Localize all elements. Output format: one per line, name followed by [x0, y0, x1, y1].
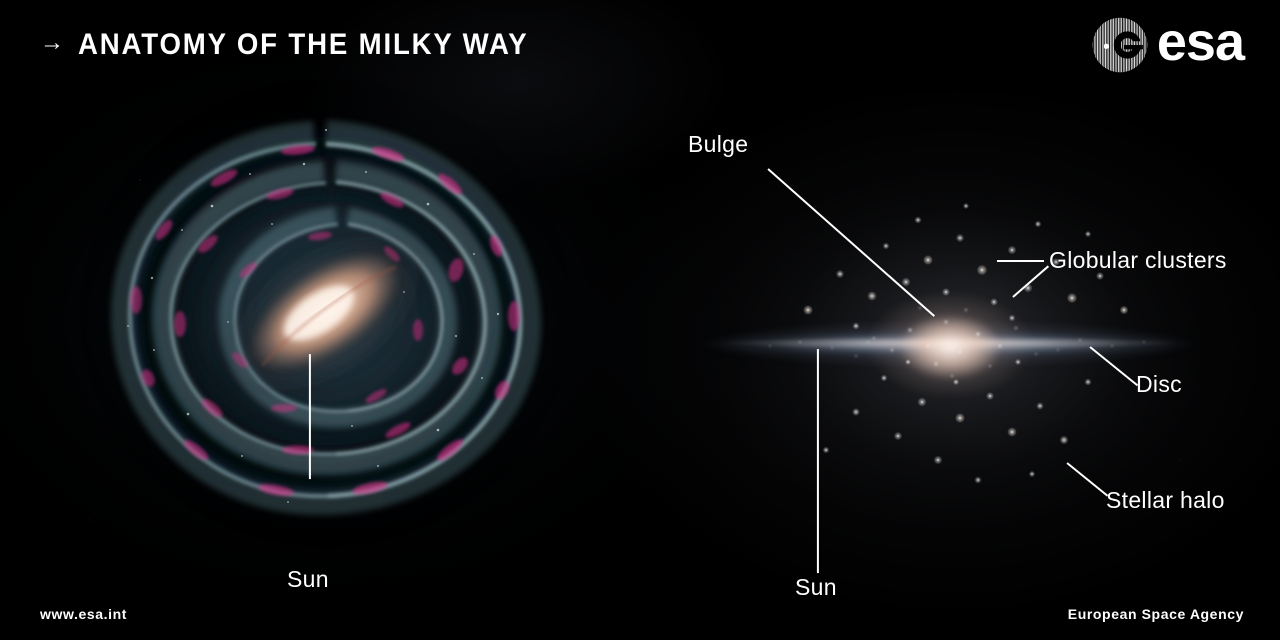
galactic-bulge — [865, 290, 1035, 400]
label-sun-edgeon: Sun — [795, 574, 837, 601]
infographic-canvas: → Anatomy of the Milky Way — [0, 0, 1280, 640]
label-bulge: Bulge — [688, 131, 748, 158]
esa-globe-icon — [1089, 14, 1151, 76]
leader-line-sun-edgeon — [817, 349, 819, 573]
edge-on-galaxy-illustration — [660, 150, 1260, 530]
esa-logo: esa — [1089, 14, 1244, 76]
page-title: → Anatomy of the Milky Way — [40, 28, 568, 62]
footer-website[interactable]: www.esa.int — [40, 606, 127, 622]
label-disc: Disc — [1136, 371, 1182, 398]
leader-line-sun-faceon — [309, 354, 311, 479]
face-on-galaxy-illustration — [36, 78, 616, 548]
arrow-right-icon: → — [40, 31, 64, 55]
leader-line-globular-clusters-stub — [997, 260, 1044, 262]
label-sun-faceon: Sun — [287, 566, 329, 593]
label-stellar-halo: Stellar halo — [1106, 487, 1225, 514]
footer-agency: European Space Agency — [1068, 606, 1244, 622]
label-globular-clusters: Globular clusters — [1049, 247, 1227, 274]
esa-wordmark: esa — [1157, 15, 1244, 69]
page-title-text: Anatomy of the Milky Way — [78, 28, 529, 62]
